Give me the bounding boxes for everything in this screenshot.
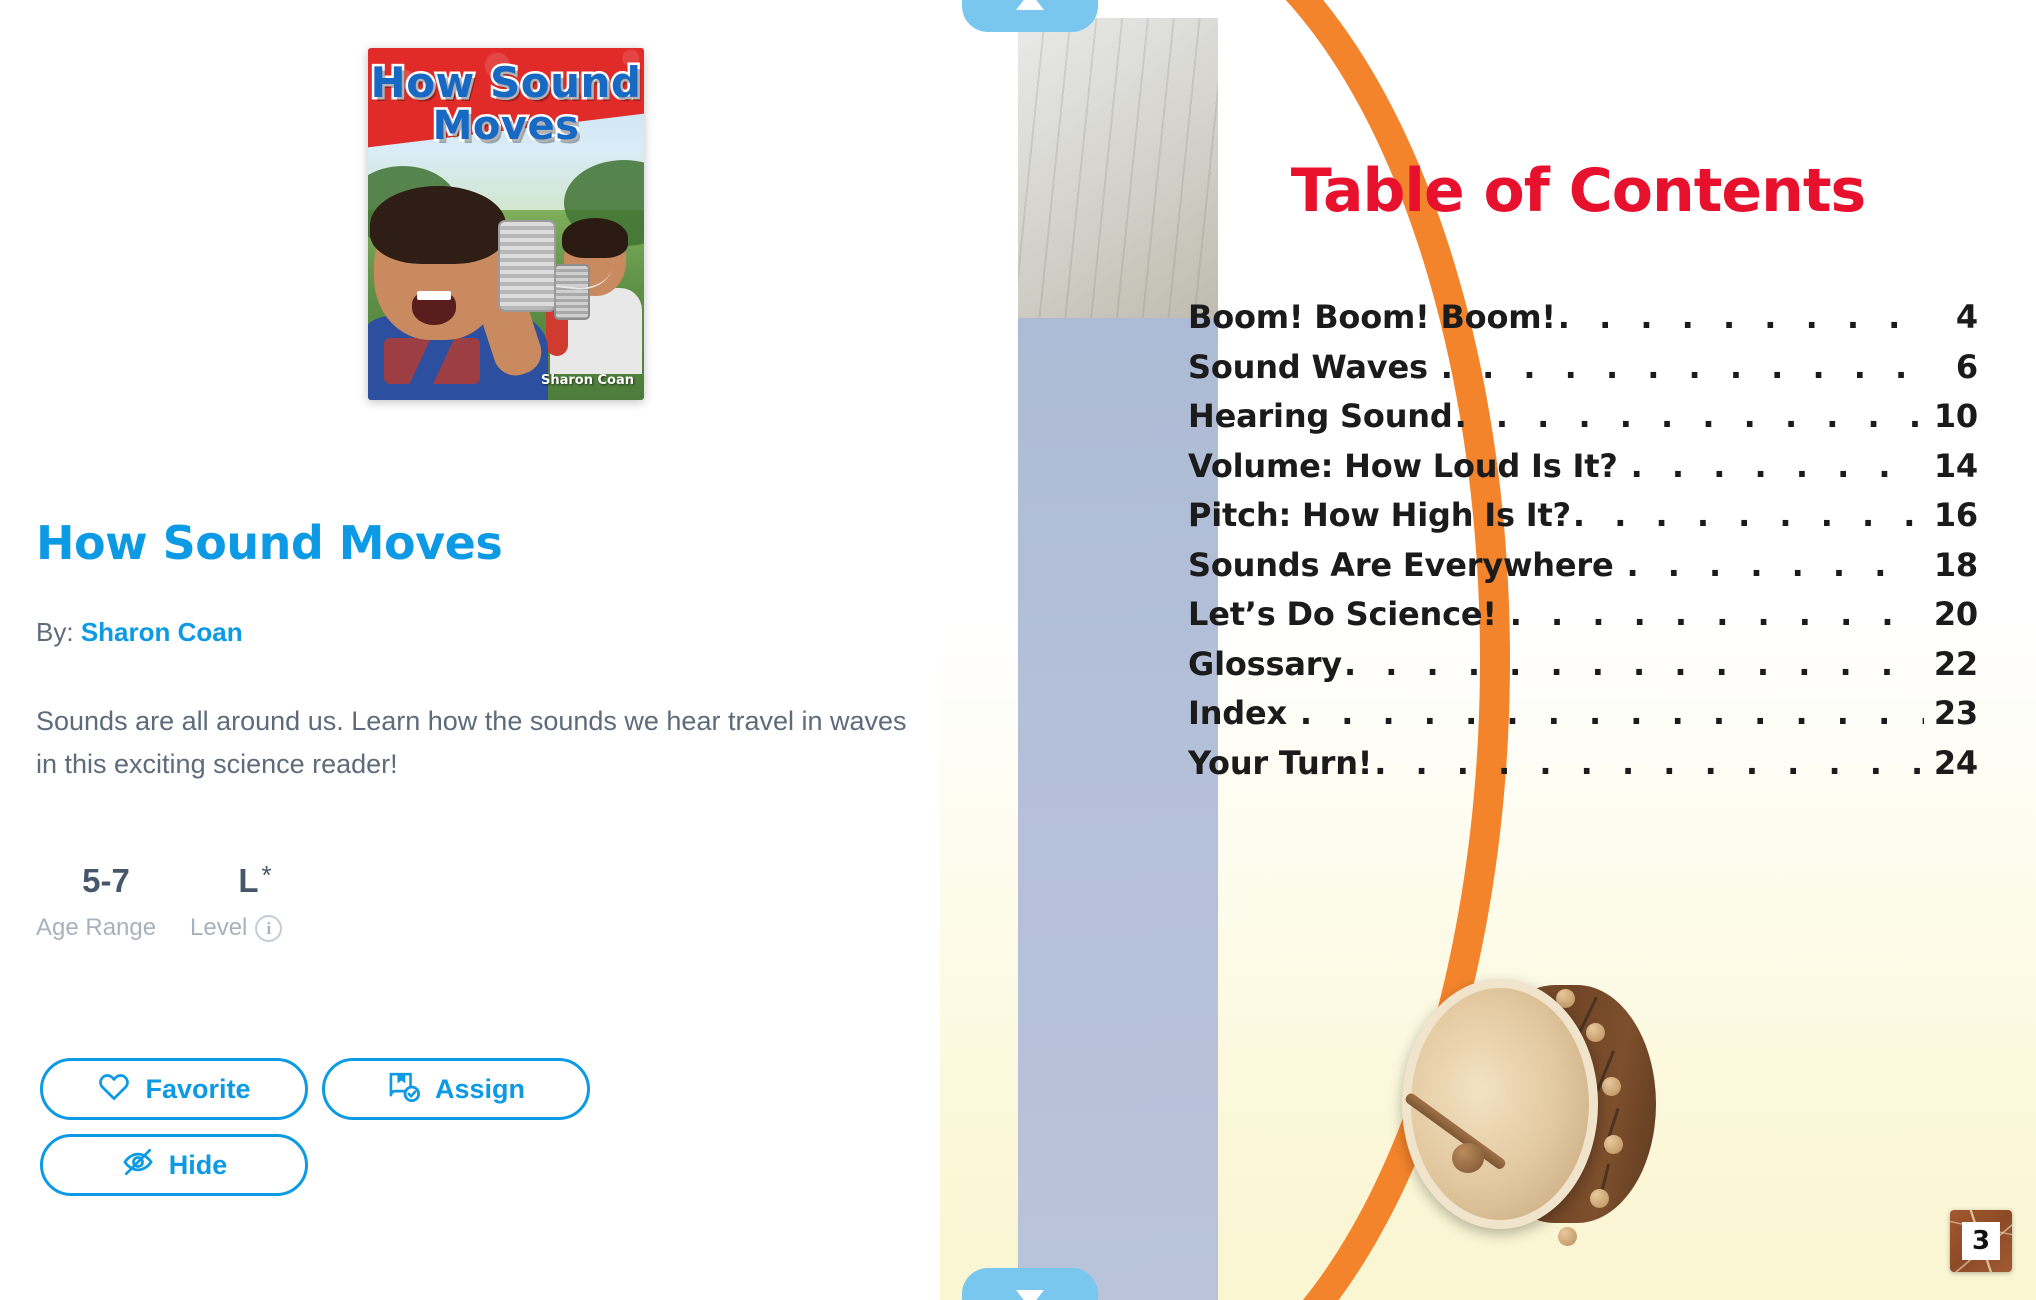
toc-dot-leader: . . . . . . . . . . . . . . . . . (1344, 645, 1924, 683)
favorite-button-label: Favorite (145, 1074, 250, 1105)
drum-peg (1590, 1189, 1609, 1208)
toc-dot-leader: . . . . . . . . . (1573, 496, 1924, 534)
action-row-secondary: Hide (40, 1134, 740, 1196)
page-number-badge: 3 (1950, 1210, 2012, 1272)
book-cover-thumbnail[interactable]: How Sound Moves Sharon Coan (368, 48, 644, 400)
action-row-primary: Favorite Assign (40, 1058, 740, 1120)
toc-entry-label: Index (1188, 694, 1298, 732)
book-metadata: 5-7 Age Range L* Level i (36, 862, 320, 942)
book-cover-art: How Sound Moves Sharon Coan (368, 48, 644, 400)
heart-icon (97, 1071, 131, 1108)
toc-entry-page: 18 (1926, 546, 1978, 584)
level-label-row: Level i (190, 914, 320, 942)
drum-mallet-head (1452, 1143, 1484, 1173)
cover-title-line2: Moves (368, 106, 644, 146)
toc-entry-page: 22 (1926, 645, 1978, 683)
byline: By: Sharon Coan (36, 617, 243, 648)
toc-dot-leader: . . . . . . . . . . . . . . (1441, 348, 1924, 386)
table-of-contents-list: Boom! Boom! Boom! . . . . . . . . . . . … (1188, 298, 1978, 793)
drum-peg (1586, 1023, 1605, 1042)
level-asterisk: * (262, 862, 272, 888)
favorite-button[interactable]: Favorite (40, 1058, 308, 1120)
toc-entry-page: 6 (1926, 348, 1978, 386)
by-label: By: (36, 617, 74, 647)
toc-entry-page: 4 (1926, 298, 1978, 336)
level-value: L* (190, 862, 320, 914)
cover-boy1-mouth (412, 291, 456, 325)
action-buttons: Favorite Assign (40, 1058, 740, 1210)
toc-entry-label: Hearing Sound (1188, 397, 1453, 435)
eye-slash-icon (121, 1147, 155, 1184)
table-of-contents-title: Table of Contents (940, 156, 2036, 226)
drum-peg (1604, 1135, 1623, 1154)
toc-entry[interactable]: Your Turn! . . . . . . . . . . . . . . .… (1188, 744, 1978, 794)
toc-dot-leader: . . . . . . . . . . . (1510, 595, 1924, 633)
author-link[interactable]: Sharon Coan (81, 617, 243, 647)
hide-button[interactable]: Hide (40, 1134, 308, 1196)
toc-entry-page: 10 (1926, 397, 1978, 435)
drum-head (1411, 988, 1589, 1220)
age-range-group: 5-7 Age Range (36, 862, 176, 942)
toc-entry[interactable]: Let’s Do Science! . . . . . . . . . . . … (1188, 595, 1978, 645)
page-title: How Sound Moves (36, 516, 502, 570)
toc-entry-label: Your Turn! (1188, 744, 1372, 782)
drum-illustration (1390, 965, 1690, 1300)
drum-peg (1602, 1077, 1621, 1096)
page-number: 3 (1962, 1222, 2000, 1260)
assign-button-label: Assign (435, 1074, 525, 1105)
toc-dot-leader: . . . . . . . (1631, 447, 1924, 485)
toc-entry[interactable]: Volume: How Loud Is It? . . . . . . . 14 (1188, 447, 1978, 497)
age-range-value: 5-7 (36, 862, 176, 914)
toc-dot-leader: . . . . . . . . . . . . . . . (1374, 744, 1924, 782)
book-description: Sounds are all around us. Learn how the … (36, 700, 916, 786)
book-detail-screen: How Sound Moves Sharon Coan How Sound Mo… (0, 0, 2036, 1300)
info-icon[interactable]: i (255, 915, 282, 942)
drum-peg (1558, 1227, 1577, 1246)
toc-entry-label: Let’s Do Science! (1188, 595, 1508, 633)
toc-entry[interactable]: Glossary . . . . . . . . . . . . . . . .… (1188, 645, 1978, 695)
level-letter: L (238, 862, 258, 900)
cover-tin-can-icon (498, 220, 556, 312)
toc-entry-label: Sound Waves (1188, 348, 1439, 386)
toc-entry-page: 20 (1926, 595, 1978, 633)
toc-entry[interactable]: Sound Waves . . . . . . . . . . . . . . … (1188, 348, 1978, 398)
level-group: L* Level i (190, 862, 320, 942)
scroll-up-button[interactable] (962, 0, 1098, 32)
book-check-icon (387, 1070, 421, 1109)
toc-entry-label: Pitch: How High Is It? (1188, 496, 1571, 534)
cover-title: How Sound Moves (368, 62, 644, 146)
scroll-down-button[interactable] (962, 1268, 1098, 1300)
toc-entry-page: 16 (1926, 496, 1978, 534)
age-range-label: Age Range (36, 914, 176, 942)
toc-entry[interactable]: Pitch: How High Is It? . . . . . . . . .… (1188, 496, 1978, 546)
book-info-panel: How Sound Moves Sharon Coan How Sound Mo… (0, 0, 940, 1300)
toc-dot-leader: . . . . . . . . . . . . . (1455, 397, 1924, 435)
toc-entry-label: Sounds Are Everywhere (1188, 546, 1624, 584)
toc-entry-page: 24 (1926, 744, 1978, 782)
level-label: Level (190, 914, 247, 942)
toc-dot-leader: . . . . . . . . . . . (1558, 298, 1924, 336)
toc-entry-label: Glossary (1188, 645, 1342, 683)
toc-entry-page: 14 (1926, 447, 1978, 485)
cover-title-line1: How Sound (368, 62, 644, 104)
book-page-preview[interactable]: Table of Contents Boom! Boom! Boom! . . … (940, 0, 2036, 1300)
toc-entry[interactable]: Boom! Boom! Boom! . . . . . . . . . . . … (1188, 298, 1978, 348)
toc-entry-label: Boom! Boom! Boom! (1188, 298, 1556, 336)
toc-entry[interactable]: Hearing Sound . . . . . . . . . . . . . … (1188, 397, 1978, 447)
toc-entry[interactable]: Sounds Are Everywhere . . . . . . . 18 (1188, 546, 1978, 596)
cover-author: Sharon Coan (541, 373, 634, 388)
toc-entry[interactable]: Index . . . . . . . . . . . . . . . . . … (1188, 694, 1978, 744)
toc-entry-page: 23 (1926, 694, 1978, 732)
toc-dot-leader: . . . . . . . . . . . . . . . . . (1300, 694, 1924, 732)
hide-button-label: Hide (169, 1150, 228, 1181)
toc-entry-label: Volume: How Loud Is It? (1188, 447, 1629, 485)
toc-dot-leader: . . . . . . . (1626, 546, 1924, 584)
assign-button[interactable]: Assign (322, 1058, 590, 1120)
cover-boy1-hair (370, 186, 506, 264)
